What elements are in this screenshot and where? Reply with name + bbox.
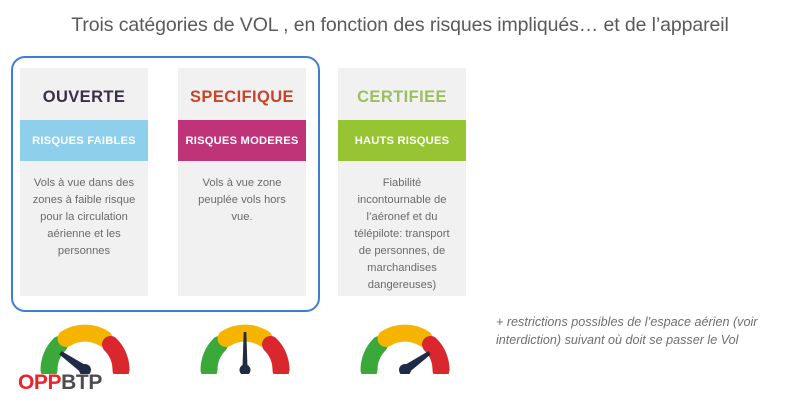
airspace-restriction-note: + restrictions possibles de l’espace aér… — [496, 313, 788, 349]
category-description: Vols à vue dans des zones à faible risqu… — [20, 161, 148, 260]
risk-badge: RISQUES FAIBLES — [20, 120, 148, 161]
oppbtp-logo: OPPBTP — [18, 371, 102, 395]
risk-badge-label: HAUTS RISQUES — [355, 135, 450, 147]
category-description: Fiabilité incontournable de l’aéronef et… — [338, 161, 466, 294]
category-card-ouverte[interactable]: OUVERTE RISQUES FAIBLES Vols à vue dans … — [20, 68, 148, 296]
logo-part-opp: OPP — [18, 371, 61, 394]
category-title: CERTIFIEE — [338, 68, 466, 120]
category-card-certifiee[interactable]: CERTIFIEE HAUTS RISQUES Fiabilité incont… — [338, 68, 466, 296]
category-card-specifique[interactable]: SPECIFIQUE RISQUES MODERES Vols à vue zo… — [178, 68, 306, 296]
category-description: Vols à vue zone peuplée vols hors vue. — [178, 161, 306, 226]
logo-part-btp: BTP — [61, 371, 102, 394]
risk-badge-label: RISQUES FAIBLES — [32, 135, 136, 147]
gauge-icon-low — [39, 316, 131, 374]
risk-badge-label: RISQUES MODERES — [185, 135, 298, 147]
risk-badge: HAUTS RISQUES — [338, 120, 466, 161]
gauge-icon-high — [359, 316, 451, 374]
gauge-icon-medium — [199, 316, 291, 374]
category-title: SPECIFIQUE — [178, 68, 306, 120]
risk-badge: RISQUES MODERES — [178, 120, 306, 161]
category-title: OUVERTE — [20, 68, 148, 120]
